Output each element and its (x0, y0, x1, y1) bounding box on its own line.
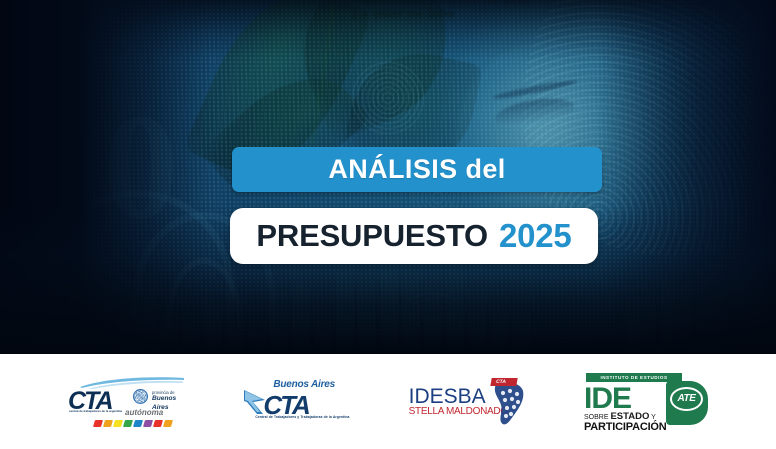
logo-idep-top-label: INSTITUTO DE ESTUDIOS (600, 375, 667, 380)
logo-footer: CTA provincia de Buenos Aires central de… (0, 354, 776, 449)
logo-cta-autonoma: CTA provincia de Buenos Aires central de… (68, 377, 190, 427)
logo-idep-ate: INSTITUTO DE ESTUDIOS IDE ATE SOBRE ESTA… (580, 373, 708, 431)
title-line-2-word: PRESUPUESTO (256, 218, 488, 254)
logo-idep-ate-label: ATE (677, 393, 695, 404)
logo-idep-line2-small: SOBRE (584, 414, 609, 421)
logo-idep-line3: PARTICIPACIÓN (584, 421, 667, 433)
logo-cta-ba-subtitle: Central de Trabajadores y Trabajadoras d… (255, 415, 349, 419)
title-plate-secondary: PRESUPUESTO 2025 (230, 208, 598, 264)
logo-idesba-flag-label: CTA (490, 378, 517, 386)
stripe (103, 420, 113, 427)
stripe (123, 420, 133, 427)
stripe (153, 420, 163, 427)
stripe (113, 420, 123, 427)
title-plate-primary: ANÁLISIS del (232, 147, 602, 192)
stripe (93, 420, 103, 427)
title-line-2-year: 2025 (499, 217, 572, 255)
logo-idesba: IDESBA STELLA MALDONADO CTA (409, 377, 527, 427)
sun-icon (133, 389, 148, 404)
stripe (163, 420, 173, 427)
logo-idep-top-bar: INSTITUTO DE ESTUDIOS (586, 373, 682, 382)
presupuesto-banner: 00 ¿A quién debo y a quién me debo y (0, 0, 776, 449)
title-line-1: ANÁLISIS del (328, 154, 505, 185)
logo-cta-ba-top: Buenos Aires (273, 379, 335, 390)
stripe (143, 420, 153, 427)
province-small-label: provincia de (152, 390, 175, 395)
logo-idep-ate-badge: ATE (670, 387, 703, 411)
logo-cta-buenos-aires: Buenos Aires CTA Central de Trabajadores… (243, 379, 355, 425)
logo-cta-autonoma-word: autónoma (125, 408, 163, 417)
color-stripes (94, 420, 172, 427)
stripe (133, 420, 143, 427)
logo-idep-line2-y: Y (651, 414, 656, 421)
logo-cta-autonoma-subtitle: central de trabajadores de la argentina (69, 410, 125, 414)
logo-idesba-flag: CTA (490, 378, 517, 386)
